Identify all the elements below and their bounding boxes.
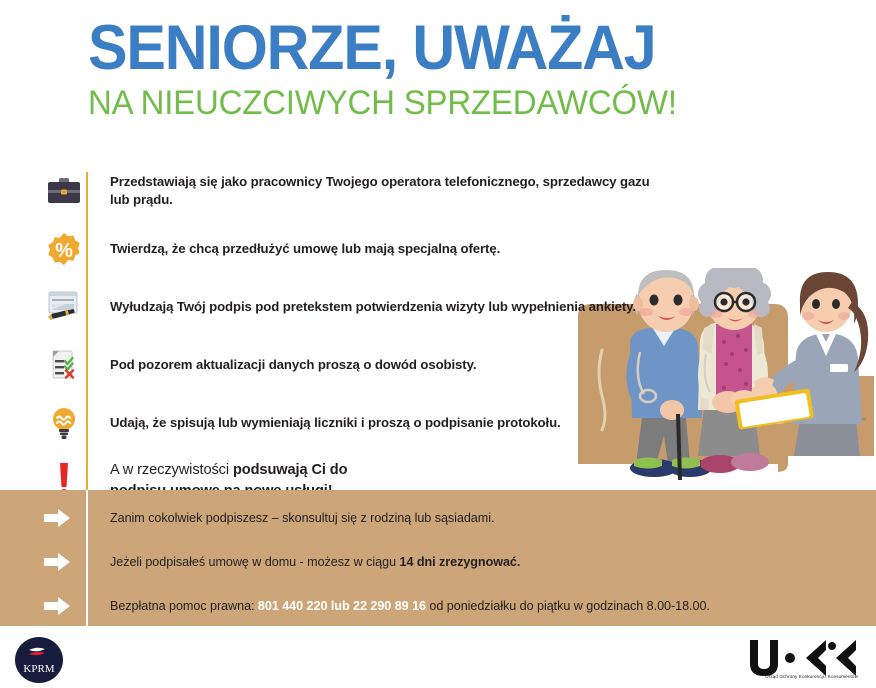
arrow-right-icon [44, 509, 70, 527]
warning-list: Przedstawiają się jako pracownicy Twojeg… [0, 170, 876, 518]
advice-bold: 14 dni zrezygnować. [399, 555, 520, 569]
arrow-right-icon [44, 597, 70, 615]
lightbulb-icon [46, 405, 82, 441]
conclusion-lead: A w rzeczywistości [110, 462, 233, 478]
helpline-phone: 801 440 220 lub 22 290 89 16 [258, 599, 426, 613]
uokik-tagline: Urząd Ochrony Konkurencji i Konsumentów [740, 674, 858, 679]
advice-prefix: Bezpłatna pomoc prawna: [110, 599, 258, 613]
advice-list: Zanim cokolwiek podpiszesz – skonsultuj … [0, 500, 876, 624]
advice-prefix: Jeżeli podpisałeś umowę w domu - możesz … [110, 555, 399, 569]
list-item: Jeżeli podpisałeś umowę w domu - możesz … [0, 544, 876, 580]
warning-text: Przedstawiają się jako pracownicy Twojeg… [110, 173, 670, 209]
kprm-logo: KPRM [8, 636, 70, 684]
checklist-icon [46, 347, 82, 383]
advice-text: Zanim cokolwiek podpiszesz – skonsultuj … [110, 511, 494, 525]
document-pen-icon [46, 289, 82, 325]
svg-text:%: % [55, 240, 73, 262]
warning-text: Twierdzą, że chcą przedłużyć umowę lub m… [110, 240, 500, 258]
list-item: Przedstawiają się jako pracownicy Twojeg… [0, 170, 876, 212]
list-item: Udają, że spisują lub wymieniają licznik… [0, 402, 876, 444]
percent-badge-icon: % [46, 231, 82, 267]
arrow-right-icon [44, 553, 70, 571]
page-subtitle: NA NIEUCZCIWYCH SPRZEDAWCÓW! [88, 86, 806, 122]
page-title: SENIORZE, UWAŻAJ [88, 18, 784, 80]
list-item: Wyłudzają Twój podpis pod pretekstem pot… [0, 286, 876, 328]
conclusion-bold-line1: podsuwają Ci do [233, 462, 347, 478]
warning-text: Pod pozorem aktualizacji danych proszą o… [110, 356, 476, 374]
list-item: Bezpłatna pomoc prawna: 801 440 220 lub … [0, 588, 876, 624]
advice-text: Bezpłatna pomoc prawna: 801 440 220 lub … [110, 599, 710, 613]
poster-header: SENIORZE, UWAŻAJ NA NIEUCZCIWYCH SPRZEDA… [88, 18, 828, 121]
list-item: Zanim cokolwiek podpiszesz – skonsultuj … [0, 500, 876, 536]
advice-text: Jeżeli podpisałeś umowę w domu - możesz … [110, 555, 520, 569]
list-item: % Twierdzą, że chcą przedłużyć umowę lub… [0, 228, 876, 270]
briefcase-icon [46, 173, 82, 209]
kprm-logo-label: KPRM [23, 663, 54, 675]
poster-root: SENIORZE, UWAŻAJ NA NIEUCZCIWYCH SPRZEDA… [0, 0, 876, 688]
warning-text: Udają, że spisują lub wymieniają licznik… [110, 414, 561, 432]
list-item: Pod pozorem aktualizacji danych proszą o… [0, 344, 876, 386]
advice-suffix: od poniedziałku do piątku w godzinach 8.… [426, 599, 710, 613]
warning-text: Wyłudzają Twój podpis pod pretekstem pot… [110, 298, 636, 316]
advice-prefix: Zanim cokolwiek podpiszesz – skonsultuj … [110, 511, 494, 525]
